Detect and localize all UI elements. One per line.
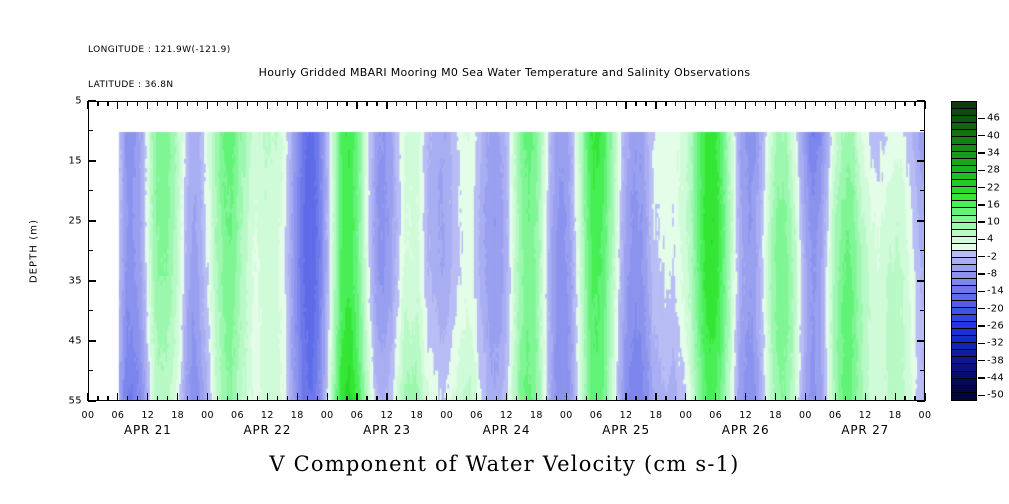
- x-axis-tick-top: [586, 101, 587, 106]
- x-axis-tick: [735, 396, 736, 401]
- x-axis-hour-label: 00: [440, 410, 453, 421]
- colorbar-cell: [952, 393, 976, 400]
- x-axis-tick-top: [536, 101, 537, 109]
- colorbar-cell: [952, 180, 976, 187]
- colorbar-cell: [952, 265, 976, 272]
- x-axis-hour-label: 12: [620, 410, 633, 421]
- x-axis-tick: [337, 396, 338, 401]
- x-axis-tick-top: [576, 101, 577, 106]
- x-axis-tick: [476, 393, 477, 401]
- colorbar-cell: [952, 102, 976, 109]
- x-axis-tick-top: [366, 101, 367, 106]
- x-axis-day-label: APR 22: [244, 423, 292, 437]
- x-axis-hour-label: 00: [321, 410, 334, 421]
- x-axis-hour-label: 18: [291, 410, 304, 421]
- x-axis-hour-label: 00: [799, 410, 812, 421]
- x-axis-tick: [167, 396, 168, 401]
- x-axis-tick-top: [127, 101, 128, 106]
- x-axis-tick-top: [815, 101, 816, 106]
- colorbar: [951, 101, 977, 401]
- colorbar-tick: [978, 170, 985, 171]
- x-axis-tick: [835, 393, 836, 401]
- x-axis-tick: [755, 396, 756, 401]
- y-axis-tick: [88, 370, 93, 371]
- x-axis-tick: [675, 396, 676, 401]
- x-axis-tick: [695, 396, 696, 401]
- x-axis-tick-top: [167, 101, 168, 106]
- x-axis-tick-top: [695, 101, 696, 106]
- colorbar-cell: [952, 137, 976, 144]
- x-axis-tick-top: [665, 101, 666, 106]
- x-axis-tick: [237, 393, 238, 401]
- colorbar-label: -2: [987, 251, 997, 262]
- heatmap-canvas-wrapper: [89, 102, 924, 400]
- x-axis-hour-label: 12: [500, 410, 513, 421]
- colorbar-cell: [952, 350, 976, 357]
- x-axis-tick: [127, 396, 128, 401]
- x-axis-hour-label: 06: [231, 410, 244, 421]
- colorbar-cell: [952, 216, 976, 223]
- x-axis-tick-top: [456, 101, 457, 106]
- colorbar-cell: [952, 286, 976, 293]
- x-axis-tick-top: [675, 101, 676, 106]
- x-axis-tick: [147, 393, 148, 401]
- x-axis-tick: [287, 396, 288, 401]
- x-axis-tick: [715, 393, 716, 401]
- x-axis-tick: [596, 393, 597, 401]
- colorbar-label: 46: [987, 113, 1000, 124]
- y-axis-tick: [917, 160, 925, 161]
- x-axis-hour-label: 06: [829, 410, 842, 421]
- y-axis-tick: [88, 160, 96, 161]
- x-axis-tick-top: [137, 101, 138, 106]
- colorbar-cell: [952, 187, 976, 194]
- colorbar-tick: [978, 395, 985, 396]
- x-axis-tick-top: [875, 101, 876, 106]
- x-axis-tick-top: [476, 101, 477, 109]
- x-axis-tick: [446, 393, 447, 401]
- colorbar-label: 10: [987, 217, 1000, 228]
- colorbar-tick: [978, 291, 985, 292]
- colorbar-cell: [952, 329, 976, 336]
- x-axis-hour-label: 12: [380, 410, 393, 421]
- x-axis-tick: [705, 396, 706, 401]
- colorbar-label: -20: [987, 303, 1004, 314]
- x-axis-tick: [645, 396, 646, 401]
- x-axis-tick-top: [755, 101, 756, 106]
- x-axis-tick-top: [307, 101, 308, 106]
- x-axis-tick-top: [376, 101, 377, 106]
- y-axis-title: DEPTH (m): [29, 219, 40, 283]
- x-axis-tick: [416, 393, 417, 401]
- x-axis-tick: [556, 396, 557, 401]
- x-axis-tick: [376, 396, 377, 401]
- x-axis-tick-top: [327, 101, 328, 109]
- x-axis-tick-top: [207, 101, 208, 109]
- x-axis-tick: [875, 396, 876, 401]
- colorbar-cell: [952, 308, 976, 315]
- y-axis-tick: [88, 190, 93, 191]
- colorbar-tick: [978, 204, 985, 205]
- x-axis-tick-top: [277, 101, 278, 106]
- x-axis-tick-top: [725, 101, 726, 106]
- colorbar-label: -8: [987, 269, 997, 280]
- x-axis-tick: [496, 396, 497, 401]
- x-axis-tick-top: [765, 101, 766, 106]
- x-axis-tick-top: [257, 101, 258, 106]
- x-axis-tick-top: [914, 101, 915, 106]
- colorbar-tick: [978, 187, 985, 188]
- x-axis-tick: [327, 393, 328, 401]
- x-axis-tick: [307, 396, 308, 401]
- chart-title: Hourly Gridded MBARI Mooring M0 Sea Wate…: [0, 66, 1009, 79]
- heatmap-canvas: [89, 102, 924, 400]
- x-axis-tick: [625, 393, 626, 401]
- x-axis-tick: [426, 396, 427, 401]
- x-axis-hour-label: 00: [679, 410, 692, 421]
- x-axis-tick-top: [486, 101, 487, 106]
- x-axis-hour-label: 00: [82, 410, 95, 421]
- colorbar-tick: [978, 152, 985, 153]
- x-axis-tick-top: [87, 101, 88, 109]
- colorbar-tick: [978, 377, 985, 378]
- x-axis-tick-top: [406, 101, 407, 106]
- colorbar-label: 22: [987, 182, 1000, 193]
- colorbar-cell: [952, 364, 976, 371]
- y-axis-depth-label: 5: [52, 96, 82, 107]
- x-axis-hour-label: 18: [171, 410, 184, 421]
- x-axis-tick: [566, 393, 567, 401]
- x-axis-tick-top: [556, 101, 557, 106]
- x-axis-tick-top: [227, 101, 228, 106]
- colorbar-cell: [952, 336, 976, 343]
- colorbar-cell: [952, 315, 976, 322]
- x-axis-tick-top: [466, 101, 467, 106]
- x-axis-hour-label: 00: [560, 410, 573, 421]
- y-axis-tick: [920, 130, 925, 131]
- y-axis-depth-label: 15: [52, 156, 82, 167]
- x-axis-tick-top: [516, 101, 517, 106]
- colorbar-tick: [978, 343, 985, 344]
- x-axis-tick-top: [157, 101, 158, 106]
- y-axis-tick: [917, 100, 925, 101]
- colorbar-cell: [952, 166, 976, 173]
- colorbar-cell: [952, 223, 976, 230]
- x-axis-tick: [297, 393, 298, 401]
- x-axis-hour-label: 18: [650, 410, 663, 421]
- x-axis-tick-top: [855, 101, 856, 106]
- colorbar-cell: [952, 130, 976, 137]
- colorbar-cell: [952, 194, 976, 201]
- colorbar-cell: [952, 343, 976, 350]
- colorbar-cell: [952, 152, 976, 159]
- colorbar-tick: [978, 273, 985, 274]
- x-axis-tick-top: [825, 101, 826, 106]
- x-axis-tick: [137, 396, 138, 401]
- colorbar-cell: [952, 159, 976, 166]
- x-axis-tick-top: [396, 101, 397, 106]
- x-axis-tick: [546, 396, 547, 401]
- y-axis-tick: [88, 220, 96, 221]
- colorbar-label: 16: [987, 199, 1000, 210]
- x-axis-tick: [904, 396, 905, 401]
- y-axis-tick: [88, 280, 96, 281]
- x-axis-hour-label: 12: [261, 410, 274, 421]
- x-axis-tick-top: [416, 101, 417, 109]
- colorbar-tick: [978, 239, 985, 240]
- colorbar-cell: [952, 272, 976, 279]
- y-axis-tick: [88, 400, 96, 401]
- x-axis-tick: [207, 393, 208, 401]
- colorbar-cell: [952, 251, 976, 258]
- x-axis-tick-top: [885, 101, 886, 106]
- x-axis-day-label: APR 25: [602, 423, 650, 437]
- x-axis-tick: [855, 396, 856, 401]
- y-axis-tick: [917, 400, 925, 401]
- x-axis-tick-top: [775, 101, 776, 109]
- x-axis-hour-label: 06: [111, 410, 124, 421]
- colorbar-cell: [952, 279, 976, 286]
- x-axis-tick-top: [655, 101, 656, 109]
- colorbar-cell: [952, 379, 976, 386]
- x-axis-tick: [795, 396, 796, 401]
- colorbar-cell: [952, 386, 976, 393]
- x-axis-tick: [406, 396, 407, 401]
- y-axis-tick: [88, 250, 93, 251]
- x-axis-tick-top: [287, 101, 288, 106]
- x-axis-tick-top: [337, 101, 338, 106]
- y-axis-tick: [920, 310, 925, 311]
- x-axis-hour-label: 06: [351, 410, 364, 421]
- x-axis-tick: [526, 396, 527, 401]
- x-axis-hour-label: 12: [141, 410, 154, 421]
- x-axis-tick-top: [147, 101, 148, 109]
- x-axis-tick-top: [426, 101, 427, 106]
- x-axis-tick-top: [745, 101, 746, 109]
- y-axis-depth-label: 45: [52, 336, 82, 347]
- x-axis-tick: [356, 393, 357, 401]
- colorbar-tick: [978, 325, 985, 326]
- x-axis-tick: [635, 396, 636, 401]
- colorbar-cell: [952, 116, 976, 123]
- x-axis-tick-top: [546, 101, 547, 106]
- x-axis-tick-top: [895, 101, 896, 109]
- x-axis-tick-top: [645, 101, 646, 106]
- y-axis-tick: [88, 310, 93, 311]
- x-axis-day-label: APR 23: [363, 423, 411, 437]
- x-axis-hour-label: 00: [919, 410, 932, 421]
- colorbar-cell: [952, 230, 976, 237]
- colorbar-label: 34: [987, 147, 1000, 158]
- x-axis-tick-top: [356, 101, 357, 109]
- x-axis-tick-top: [705, 101, 706, 106]
- colorbar-cell: [952, 201, 976, 208]
- latitude-text: LATITUDE : 36.8N: [88, 80, 231, 92]
- colorbar-label: -50: [987, 390, 1004, 401]
- colorbar-cell: [952, 244, 976, 251]
- x-axis-hour-label: 12: [739, 410, 752, 421]
- x-axis-tick-top: [247, 101, 248, 106]
- x-axis-hour-label: 00: [201, 410, 214, 421]
- colorbar-cell: [952, 109, 976, 116]
- colorbar-label: -38: [987, 355, 1004, 366]
- x-axis-tick-top: [625, 101, 626, 109]
- x-axis-tick-top: [446, 101, 447, 109]
- x-axis-hour-label: 18: [530, 410, 543, 421]
- x-axis-day-label: APR 21: [124, 423, 172, 437]
- colorbar-label: 28: [987, 165, 1000, 176]
- colorbar-cell: [952, 145, 976, 152]
- x-axis-tick: [267, 393, 268, 401]
- x-axis-tick: [227, 396, 228, 401]
- x-axis-tick: [885, 396, 886, 401]
- y-axis-depth-label: 55: [52, 396, 82, 407]
- x-axis-hour-label: 18: [769, 410, 782, 421]
- x-axis-tick-top: [735, 101, 736, 106]
- x-axis-tick: [456, 396, 457, 401]
- x-axis-tick: [775, 393, 776, 401]
- x-axis-tick-top: [317, 101, 318, 106]
- x-axis-tick: [606, 396, 607, 401]
- x-axis-tick-top: [845, 101, 846, 106]
- x-axis-tick-top: [865, 101, 866, 109]
- x-axis-tick-top: [297, 101, 298, 109]
- x-axis-day-label: APR 27: [841, 423, 889, 437]
- x-axis-tick: [805, 393, 806, 401]
- x-axis-tick: [257, 396, 258, 401]
- x-axis-tick-top: [386, 101, 387, 109]
- y-axis-tick: [917, 280, 925, 281]
- x-axis-tick-top: [616, 101, 617, 106]
- colorbar-cell: [952, 173, 976, 180]
- colorbar-cell: [952, 123, 976, 130]
- x-axis-tick: [536, 393, 537, 401]
- colorbar-label: -14: [987, 286, 1004, 297]
- x-axis-tick-top: [795, 101, 796, 106]
- x-axis-tick: [815, 396, 816, 401]
- x-axis-tick: [466, 396, 467, 401]
- colorbar-tick: [978, 308, 985, 309]
- x-axis-tick: [486, 396, 487, 401]
- y-axis-tick: [88, 340, 96, 341]
- colorbar-cell: [952, 372, 976, 379]
- colorbar-tick: [978, 256, 985, 257]
- x-axis-day-label: APR 26: [722, 423, 770, 437]
- x-axis-tick: [725, 396, 726, 401]
- x-axis-tick: [217, 396, 218, 401]
- x-axis-tick-top: [97, 101, 98, 106]
- x-axis-tick: [197, 396, 198, 401]
- colorbar-cell: [952, 237, 976, 244]
- x-axis-tick-top: [267, 101, 268, 109]
- colorbar-cell: [952, 322, 976, 329]
- x-axis-tick-top: [117, 101, 118, 109]
- colorbar-cell: [952, 208, 976, 215]
- x-axis-tick: [765, 396, 766, 401]
- x-axis-hour-label: 18: [889, 410, 902, 421]
- x-axis-tick: [506, 393, 507, 401]
- y-axis-tick: [88, 130, 93, 131]
- x-axis-tick-top: [237, 101, 238, 109]
- x-axis-tick: [914, 396, 915, 401]
- x-axis-tick: [396, 396, 397, 401]
- colorbar-label: 4: [987, 234, 994, 245]
- x-axis-tick-top: [346, 101, 347, 106]
- x-axis-tick: [655, 393, 656, 401]
- x-axis-hour-label: 06: [590, 410, 603, 421]
- y-axis-depth-label: 35: [52, 276, 82, 287]
- x-axis-hour-label: 06: [470, 410, 483, 421]
- colorbar-cell: [952, 258, 976, 265]
- x-axis-tick-top: [506, 101, 507, 109]
- x-axis-hour-label: 06: [709, 410, 722, 421]
- x-axis-tick-top: [197, 101, 198, 106]
- colorbar-label: -32: [987, 338, 1004, 349]
- y-axis-tick: [917, 340, 925, 341]
- colorbar-cell: [952, 301, 976, 308]
- x-axis-tick: [97, 396, 98, 401]
- x-axis-tick-top: [635, 101, 636, 106]
- x-axis-tick-top: [187, 101, 188, 106]
- x-axis-tick: [277, 396, 278, 401]
- colorbar-cell: [952, 294, 976, 301]
- colorbar-tick: [978, 360, 985, 361]
- x-axis-tick: [895, 393, 896, 401]
- plot-area: [88, 101, 925, 401]
- x-axis-tick: [117, 393, 118, 401]
- x-axis-tick: [436, 396, 437, 401]
- colorbar-label: -26: [987, 321, 1004, 332]
- colorbar-tick: [978, 118, 985, 119]
- x-axis-tick-top: [904, 101, 905, 106]
- x-axis-tick-top: [526, 101, 527, 106]
- x-axis-hour-label: 12: [859, 410, 872, 421]
- x-axis-tick: [825, 396, 826, 401]
- x-axis-tick: [616, 396, 617, 401]
- x-axis-tick-top: [596, 101, 597, 109]
- x-axis-tick: [845, 396, 846, 401]
- x-axis-tick: [157, 396, 158, 401]
- x-axis-tick: [317, 396, 318, 401]
- x-axis-tick: [576, 396, 577, 401]
- x-axis-tick-top: [785, 101, 786, 106]
- colorbar-label: -44: [987, 372, 1004, 383]
- x-axis-tick: [187, 396, 188, 401]
- x-axis-tick-top: [496, 101, 497, 106]
- x-axis-tick: [865, 393, 866, 401]
- colorbar-cell: [952, 357, 976, 364]
- figure-caption: V Component of Water Velocity (cm s-1): [0, 452, 1009, 476]
- y-axis-tick: [920, 250, 925, 251]
- x-axis-tick: [685, 393, 686, 401]
- x-axis-tick-top: [606, 101, 607, 106]
- x-axis-tick-top: [107, 101, 108, 106]
- y-axis-tick: [920, 370, 925, 371]
- x-axis-tick: [745, 393, 746, 401]
- x-axis-tick-top: [177, 101, 178, 109]
- x-axis-tick-top: [566, 101, 567, 109]
- x-axis-hour-label: 18: [410, 410, 423, 421]
- y-axis-tick: [920, 190, 925, 191]
- x-axis-tick-top: [924, 101, 925, 109]
- x-axis-tick: [665, 396, 666, 401]
- colorbar-tick: [978, 135, 985, 136]
- x-axis-tick: [516, 396, 517, 401]
- y-axis-depth-label: 25: [52, 216, 82, 227]
- x-axis-tick: [366, 396, 367, 401]
- x-axis-tick-top: [436, 101, 437, 106]
- x-axis-tick: [107, 396, 108, 401]
